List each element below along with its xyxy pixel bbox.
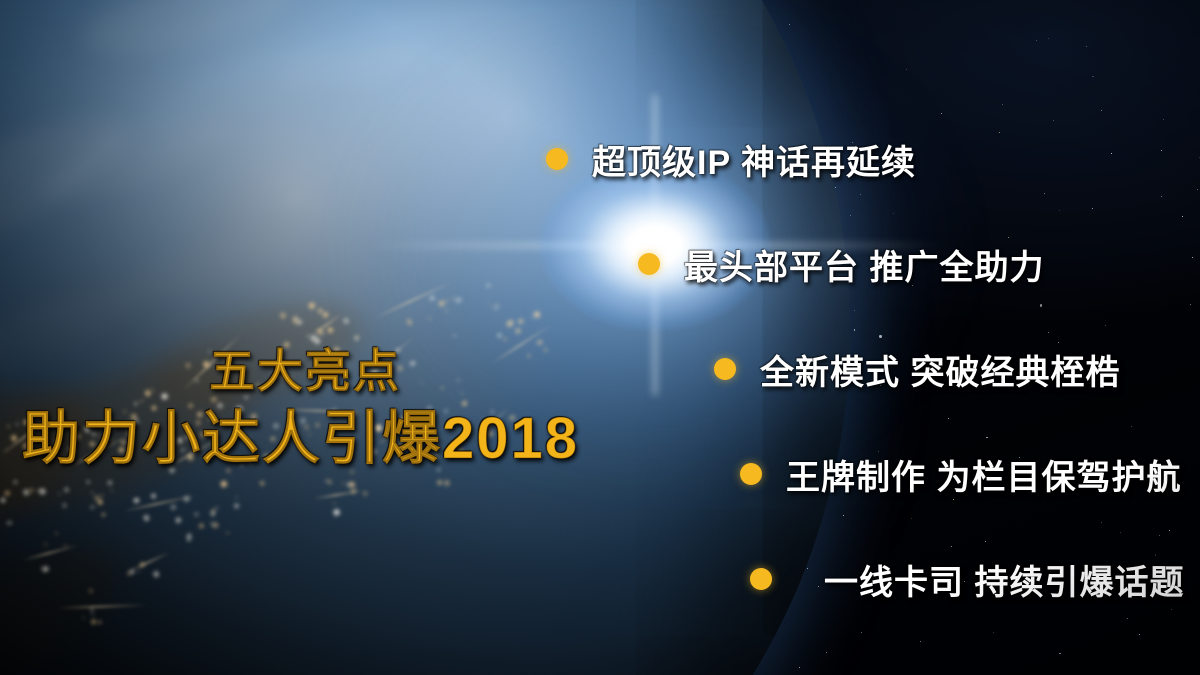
headline-line-2: 助力小达人引爆2018: [0, 410, 580, 468]
bullet-text-3: 全新模式 突破经典桎梏: [760, 345, 1120, 394]
presentation-slide: 五大亮点 助力小达人引爆2018 超顶级IP 神话再延续 最头部平台 推广全助力…: [0, 0, 1200, 675]
bullet-dot-icon: [546, 148, 568, 170]
bullet-text-1: 超顶级IP 神话再延续: [592, 135, 916, 184]
headline-line-1: 五大亮点: [0, 348, 580, 394]
bullet-dot-icon: [750, 568, 772, 590]
bullet-text-4: 王牌制作 为栏目保驾护航: [786, 450, 1181, 499]
bullet-item-5: 一线卡司 持续引爆话题: [750, 550, 1200, 608]
bullet-dot-icon: [714, 358, 736, 380]
headline-block: 五大亮点 助力小达人引爆2018: [0, 348, 580, 468]
bullet-dot-icon: [638, 253, 660, 275]
bullet-item-3: 全新模式 突破经典桎梏: [714, 340, 1200, 398]
bullet-list: 超顶级IP 神话再延续 最头部平台 推广全助力 全新模式 突破经典桎梏 王牌制作…: [520, 130, 1200, 655]
bullet-item-2: 最头部平台 推广全助力: [638, 235, 1200, 293]
bullet-dot-icon: [740, 463, 762, 485]
bullet-item-4: 王牌制作 为栏目保驾护航: [740, 445, 1200, 503]
bullet-text-5: 一线卡司 持续引爆话题: [824, 555, 1184, 604]
bullet-text-2: 最头部平台 推广全助力: [684, 240, 1044, 289]
bullet-item-1: 超顶级IP 神话再延续: [546, 130, 1200, 188]
